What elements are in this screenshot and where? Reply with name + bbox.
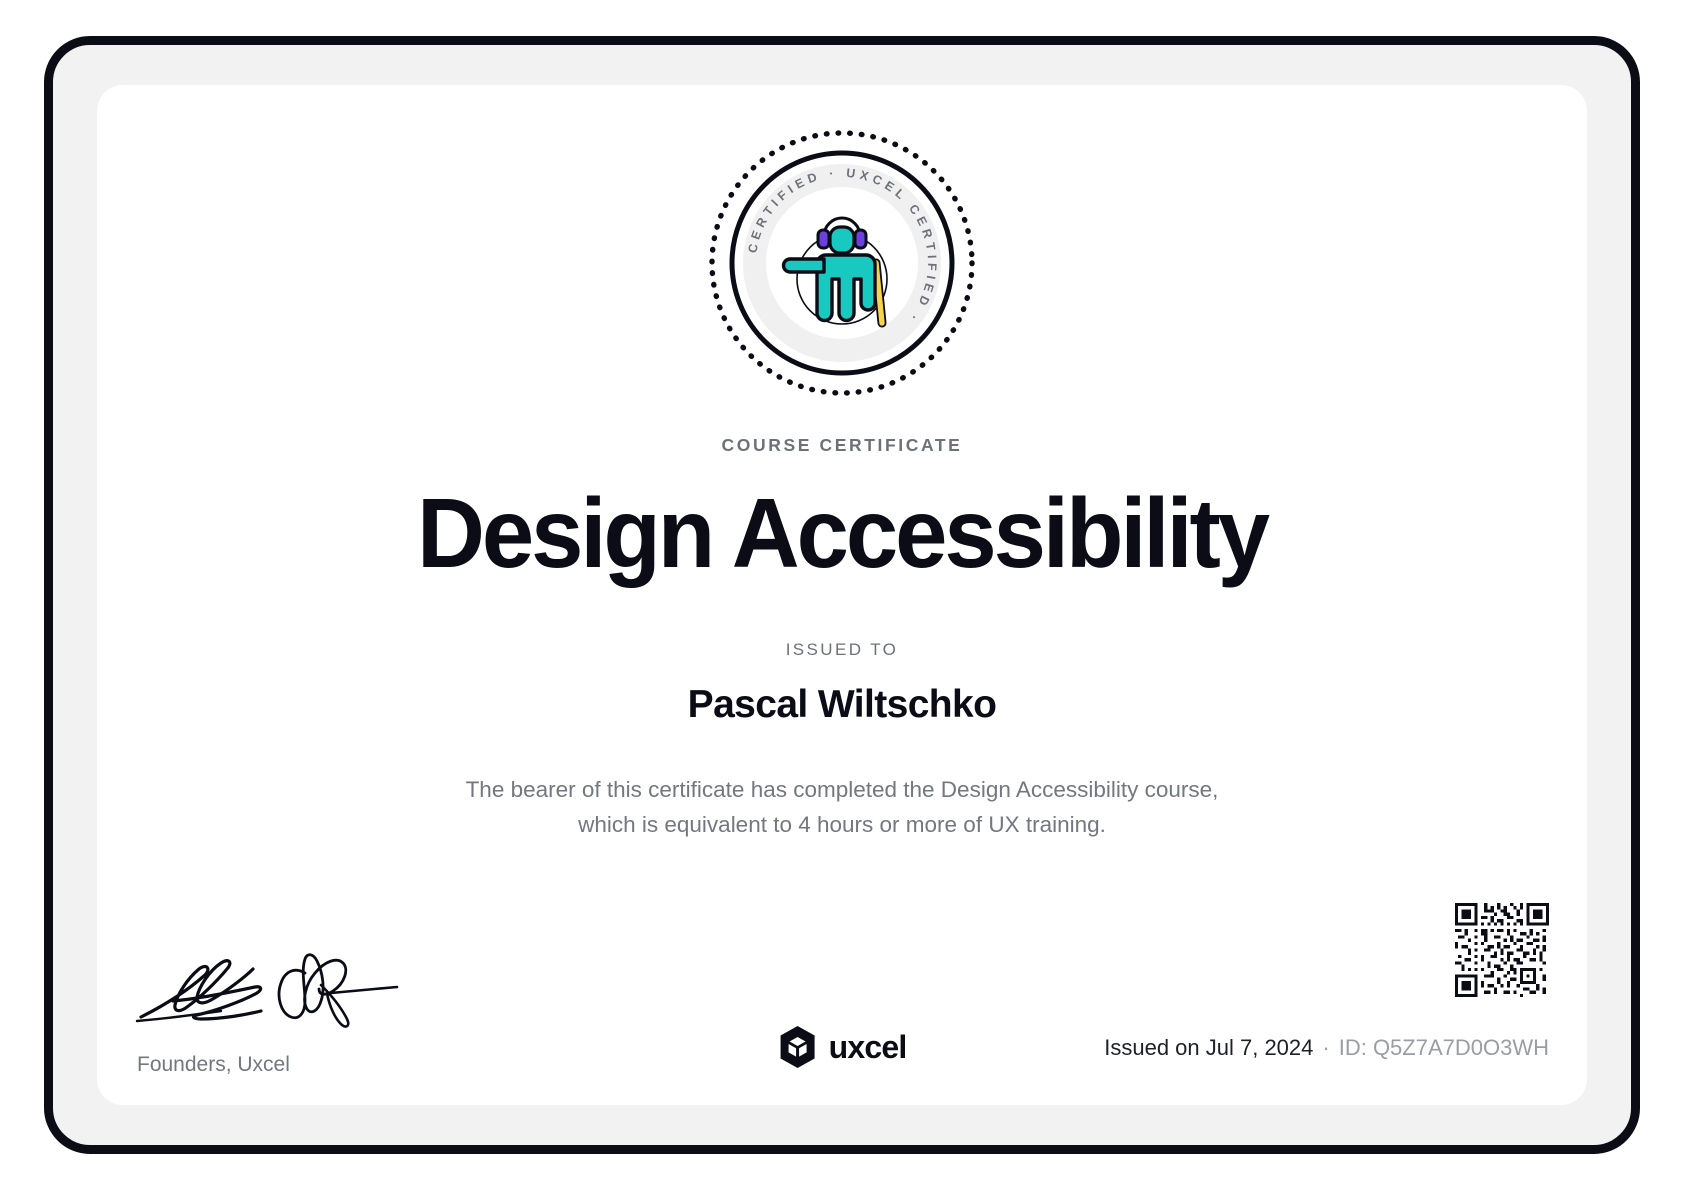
certificate-eyebrow: COURSE CERTIFICATE [97,435,1587,456]
description-line-2: which is equivalent to 4 hours or more o… [578,812,1106,837]
founder-signatures-icon [135,945,425,1037]
meta-separator: · [1313,1035,1338,1060]
uxcel-wordmark: uxcel [829,1029,907,1066]
certificate-footer: Founders, Uxcel uxcel [97,905,1587,1105]
figure-head-icon [830,227,854,253]
certificate-description: The bearer of this certificate has compl… [217,773,1467,843]
signature-caption: Founders, Uxcel [137,1053,553,1077]
headphone-right-cup-icon [855,230,866,248]
badge-graphic: UXCEL CERTIFIED · UXCEL CERTIFIED · [706,127,978,399]
certificate-frame: UXCEL CERTIFIED · UXCEL CERTIFIED · [44,36,1640,1154]
issued-on-date: Issued on Jul 7, 2024 [1104,1035,1313,1060]
description-line-1: The bearer of this certificate has compl… [466,777,1219,802]
uxcel-logo-icon [778,1025,818,1069]
certificate-id: ID: Q5Z7A7D0O3WH [1339,1035,1549,1060]
issued-to-label: ISSUED TO [97,640,1587,660]
verification-qr-code[interactable] [1455,903,1549,997]
figure-arm-icon [784,259,825,272]
certification-badge: UXCEL CERTIFIED · UXCEL CERTIFIED · [706,127,978,399]
qr-code-icon[interactable] [1455,903,1549,997]
issuance-meta: Issued on Jul 7, 2024·ID: Q5Z7A7D0O3WH [1104,1035,1549,1061]
figure-body-icon [817,255,875,321]
recipient-name: Pascal Wiltschko [97,683,1587,727]
headphone-left-cup-icon [818,230,829,248]
certificate-card: UXCEL CERTIFIED · UXCEL CERTIFIED · [97,85,1587,1105]
signature-block: Founders, Uxcel [133,945,553,1077]
uxcel-brand: uxcel [778,1025,907,1069]
certificate-title: Design Accessibility [127,481,1557,587]
